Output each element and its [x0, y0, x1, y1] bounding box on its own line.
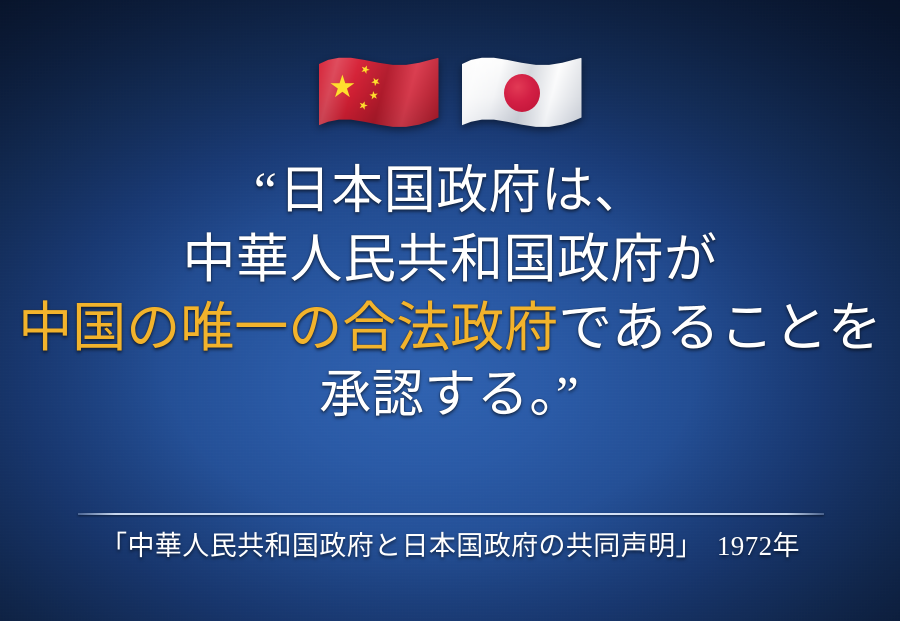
- quote-line-4: 承認する。”: [0, 362, 900, 430]
- japan-flag-field: [462, 57, 582, 129]
- flag-row: ★ ★ ★ ★ ★: [0, 50, 900, 136]
- china-flag-star-large: ★: [329, 71, 357, 102]
- quote-block: “日本国政府は、 中華人民共和国政府が 中国の唯一の合法政府であることを 承認す…: [0, 158, 900, 430]
- japan-flag-sun-disc: [504, 74, 540, 112]
- china-flag-star-small-1: ★: [358, 64, 371, 78]
- quote-line-3: 中国の唯一の合法政府であることを: [0, 294, 900, 362]
- quote-line-2: 中華人民共和国政府が: [0, 226, 900, 294]
- china-flag-star-small-4: ★: [356, 100, 369, 114]
- japan-flag-icon: [462, 57, 582, 129]
- quote-line-4-text: 承認する。: [319, 367, 556, 424]
- quote-line-1: “日本国政府は、: [0, 158, 900, 226]
- quote-open-mark: “: [254, 163, 279, 220]
- china-flag-icon: ★ ★ ★ ★ ★: [319, 57, 439, 129]
- china-flag-star-small-2: ★: [367, 75, 382, 90]
- source-divider: [78, 513, 824, 515]
- source-year: 1972年: [717, 531, 800, 561]
- quote-highlight-text: 中国の唯一の合法政府: [18, 298, 558, 358]
- quote-line-1-text: 日本国政府は、: [279, 163, 647, 220]
- quote-line-3-rest: であることを: [558, 298, 881, 358]
- quote-slide: ★ ★ ★ ★ ★ “日本国政府は、 中華人民共和国政府が 中国の唯一の合法政府…: [0, 0, 900, 621]
- quote-close-mark: ”: [556, 367, 581, 424]
- source-title: 「中華人民共和国政府と日本国政府の共同声明」: [100, 531, 703, 561]
- source-attribution: 「中華人民共和国政府と日本国政府の共同声明」1972年: [0, 527, 900, 565]
- quote-line-2-text: 中華人民共和国政府が: [183, 231, 718, 289]
- china-flag-field: ★ ★ ★ ★ ★: [319, 57, 439, 129]
- china-flag-star-small-3: ★: [368, 90, 379, 102]
